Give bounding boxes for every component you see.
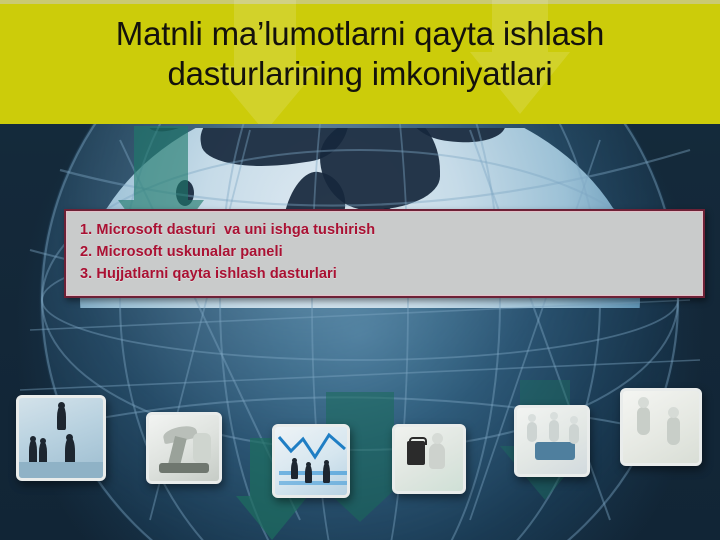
agenda-item-1: 1. Microsoft dasturi va uni ishga tushir… bbox=[80, 219, 703, 241]
agenda-item-3: 3. Hujjatlarni qayta ishlash dasturlari bbox=[80, 263, 703, 285]
list-item bbox=[392, 424, 466, 494]
list-item bbox=[16, 395, 106, 481]
agenda-box: 1. Microsoft dasturi va uni ishga tushir… bbox=[64, 209, 705, 298]
list-item bbox=[272, 424, 350, 498]
slide-header-band: Matnli ma’lumotlarni qayta ishlash dastu… bbox=[0, 0, 720, 124]
agenda-item-2: 2. Microsoft uskunalar paneli bbox=[80, 241, 703, 263]
list-item bbox=[620, 388, 702, 466]
presentation-slide: Matnli ma’lumotlarni qayta ishlash dastu… bbox=[0, 0, 720, 540]
list-item bbox=[146, 412, 222, 484]
page-title: Matnli ma’lumotlarni qayta ishlash dastu… bbox=[0, 0, 720, 95]
list-item bbox=[514, 405, 590, 477]
agenda-list: 1. Microsoft dasturi va uni ishga tushir… bbox=[80, 219, 703, 285]
